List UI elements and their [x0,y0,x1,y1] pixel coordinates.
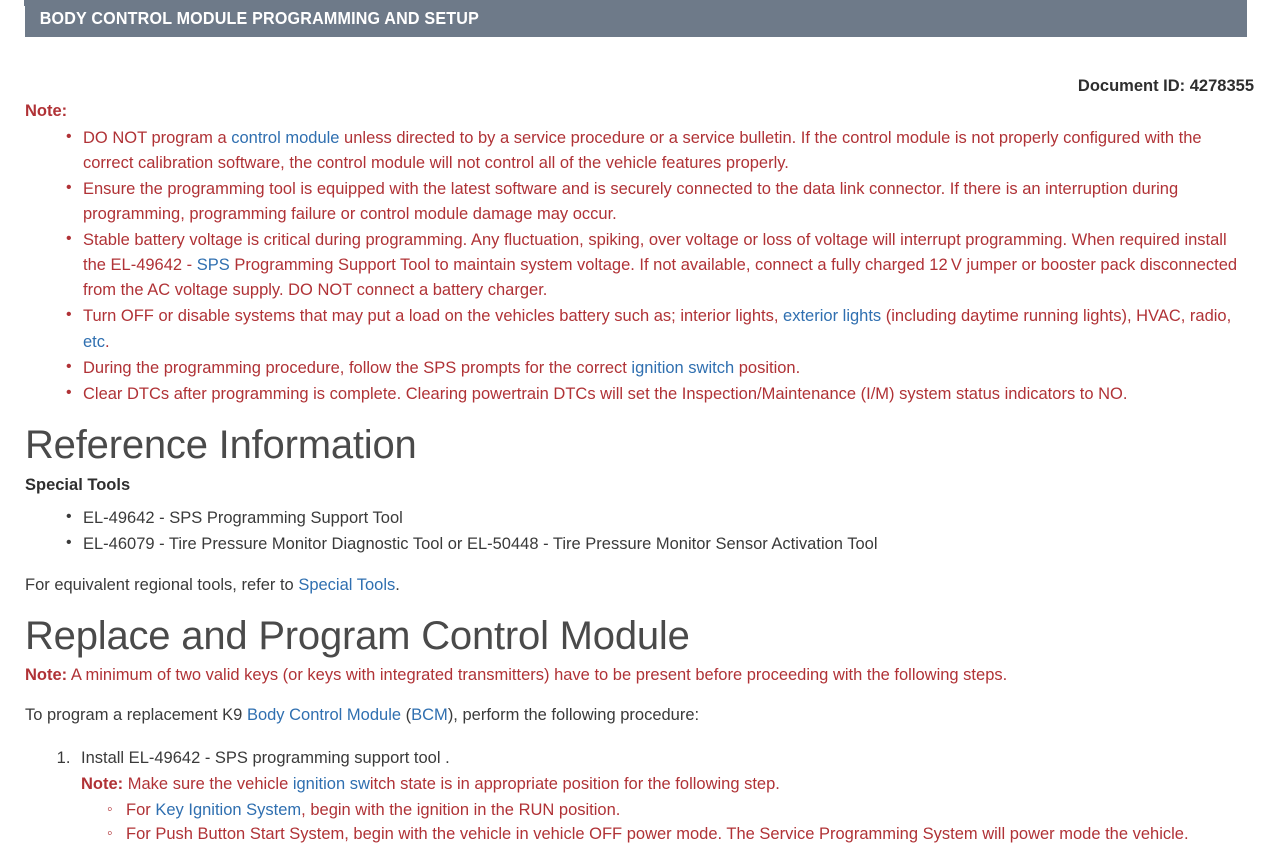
note-bullet: Ensure the programming tool is equipped … [66,177,1250,227]
inline-link[interactable]: SPS [197,256,230,274]
special-tool-item: EL-49642 - SPS Programming Support Tool [66,505,1250,531]
inline-link[interactable]: ignition sw [293,775,370,793]
page-title: BODY CONTROL MODULE PROGRAMMING AND SETU… [25,8,479,29]
inline-text: , begin with the ignition in the RUN pos… [301,801,620,819]
inline-text: itch state is in appropriate position fo… [370,775,780,793]
special-tools-list: EL-49642 - SPS Programming Support ToolE… [25,505,1250,557]
inline-link[interactable]: Key Ignition System [155,801,301,819]
inline-link[interactable]: exterior lights [783,307,881,325]
note-text: A minimum of two valid keys (or keys wit… [67,666,1007,684]
inline-link[interactable]: BCM [411,706,448,724]
equivalent-tools-note: For equivalent regional tools, refer to … [25,573,1250,598]
step-sublist-item: For Push Button Start System, begin with… [107,822,1250,847]
inline-text: To program a replacement K9 [25,706,247,724]
top-note-list: DO NOT program a control module unless d… [25,126,1250,407]
inline-link[interactable]: ignition switch [631,359,734,377]
note-bullet: Clear DTCs after programming is complete… [66,382,1250,407]
inline-text: DO NOT program a [83,129,231,147]
step-note: Note: Make sure the vehicle ignition swi… [81,772,1250,797]
replace-program-note: Note: A minimum of two valid keys (or ke… [25,663,1250,688]
note-bullet: Turn OFF or disable systems that may put… [66,304,1250,354]
page-header-bar: BODY CONTROL MODULE PROGRAMMING AND SETU… [25,0,1247,37]
note-bullet: During the programming procedure, follow… [66,356,1250,381]
inline-text: For equivalent regional tools, refer to [25,576,298,594]
inline-text: For [126,801,155,819]
inline-text: . [105,333,110,351]
inline-link[interactable]: control module [231,129,339,147]
inline-text: Clear DTCs after programming is complete… [83,385,1127,403]
special-tool-item: EL-46079 - Tire Pressure Monitor Diagnos… [66,531,1250,557]
inline-link[interactable]: etc [83,333,105,351]
inline-link[interactable]: Special Tools [298,576,395,594]
inline-text: For Push Button Start System, begin with… [126,825,1189,843]
inline-text: (including daytime running lights), HVAC… [881,307,1231,325]
inline-text: Ensure the programming tool is equipped … [83,180,1178,223]
step-note-label: Note: [81,775,123,793]
replace-program-heading: Replace and Program Control Module [25,614,1250,659]
top-note-label: Note: [25,100,1250,124]
document-content: Note: DO NOT program a control module un… [25,100,1250,847]
inline-text: . [395,576,400,594]
special-tools-subheading: Special Tools [25,476,1250,495]
note-bullet: DO NOT program a control module unless d… [66,126,1250,176]
note-label: Note: [25,666,67,684]
step-sublist-item: For Key Ignition System, begin with the … [107,798,1250,823]
procedure-step: Install EL-49642 - SPS programming suppo… [75,746,1250,847]
inline-text: ( [401,706,411,724]
inline-text: Programming Support Tool to maintain sys… [83,256,1237,299]
inline-link[interactable]: Body Control Module [247,706,401,724]
inline-text: position. [734,359,800,377]
inline-text: During the programming procedure, follow… [83,359,631,377]
document-id: Document ID: 4278355 [1078,77,1254,96]
inline-text: Turn OFF or disable systems that may put… [83,307,783,325]
step-text: Install EL-49642 - SPS programming suppo… [81,749,450,767]
reference-information-heading: Reference Information [25,423,1250,468]
step-sublist: For Key Ignition System, begin with the … [81,798,1250,848]
inline-text: ), perform the following procedure: [448,706,699,724]
procedure-steps: Install EL-49642 - SPS programming suppo… [25,746,1250,847]
note-bullet: Stable battery voltage is critical durin… [66,228,1250,303]
replace-program-intro: To program a replacement K9 Body Control… [25,703,1250,728]
inline-text: Make sure the vehicle [123,775,293,793]
